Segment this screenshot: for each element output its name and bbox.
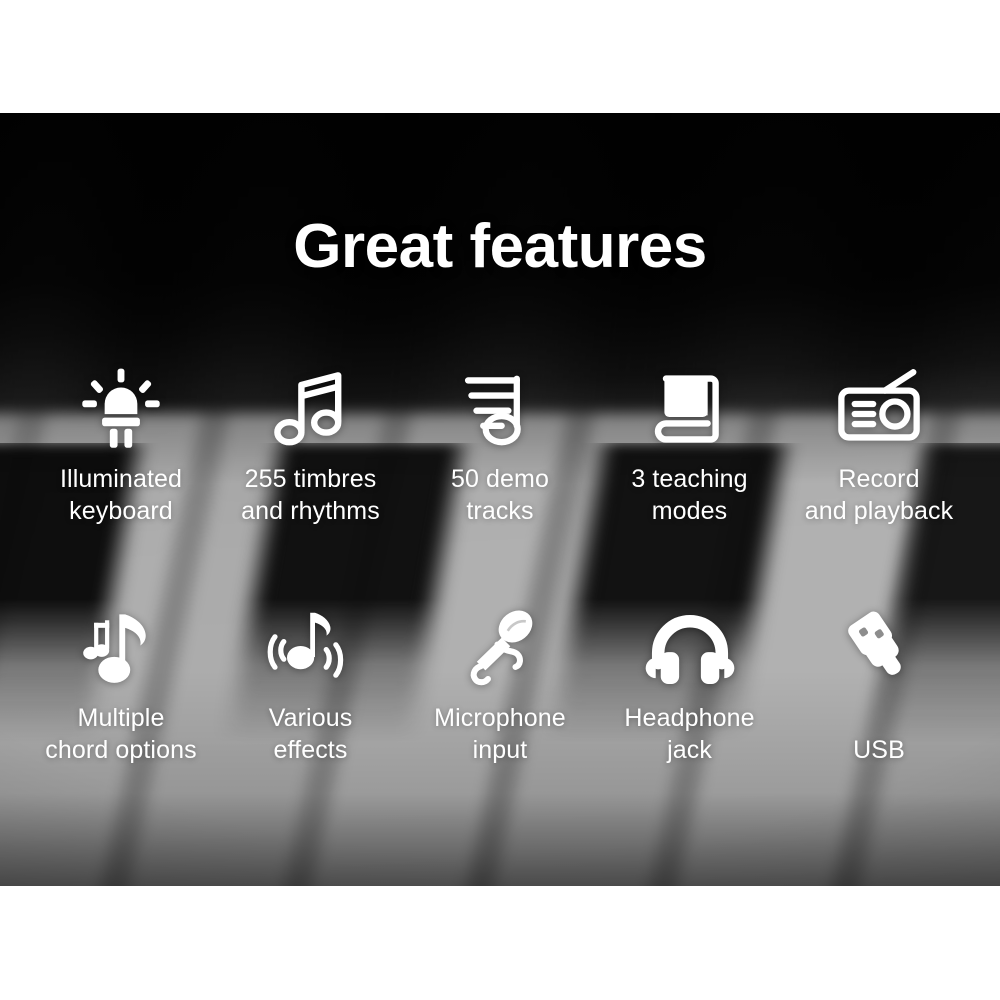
feature-label: 255 timbres and rhythms: [241, 464, 380, 527]
feature-demo-tracks: 50 demo tracks: [407, 366, 593, 527]
feature-label: Headphone jack: [624, 703, 754, 766]
beamed-music-notes-icon: [271, 366, 351, 452]
radio-icon: [833, 366, 925, 452]
feature-headphone-jack: Headphone jack: [597, 605, 783, 767]
feature-row-2: Multiple chord options: [0, 605, 1000, 767]
book-icon: [650, 366, 730, 452]
feature-usb: USB: [786, 605, 972, 767]
feature-label: Illuminated keyboard: [60, 464, 182, 527]
page-title: Great features: [0, 216, 1000, 278]
feature-record-playback: Record and playback: [786, 366, 972, 527]
feature-row-1: Illuminated keyboard 255 timbres and rhy…: [0, 366, 1000, 527]
headphones-icon: [644, 605, 736, 691]
feature-various-effects: Various effects: [218, 605, 404, 767]
infographic-page: Great features: [0, 0, 1000, 1000]
feature-teaching-modes: 3 teaching modes: [597, 366, 783, 527]
usb-plug-icon: [836, 605, 922, 691]
feature-label: Multiple chord options: [45, 703, 196, 766]
feature-label: Various effects: [269, 703, 353, 766]
feature-chord-options: Multiple chord options: [28, 605, 214, 767]
illuminated-bulb-icon: [78, 366, 164, 452]
feature-label: Record and playback: [805, 464, 954, 527]
music-note-speed-lines-icon: [458, 366, 542, 452]
microphone-icon: [455, 605, 545, 691]
feature-microphone-input: Microphone input: [407, 605, 593, 767]
feature-label: Microphone input: [434, 703, 566, 766]
multiple-music-notes-icon: [79, 605, 163, 691]
feature-label: 50 demo tracks: [451, 464, 549, 527]
feature-illuminated-keyboard: Illuminated keyboard: [28, 366, 214, 527]
feature-label: 3 teaching modes: [631, 464, 747, 527]
banner-content: Great features: [0, 113, 1000, 886]
music-note-sound-waves-icon: [267, 605, 355, 691]
feature-label: USB: [853, 735, 905, 767]
feature-timbres-rhythms: 255 timbres and rhythms: [218, 366, 404, 527]
feature-banner: Great features: [0, 113, 1000, 886]
